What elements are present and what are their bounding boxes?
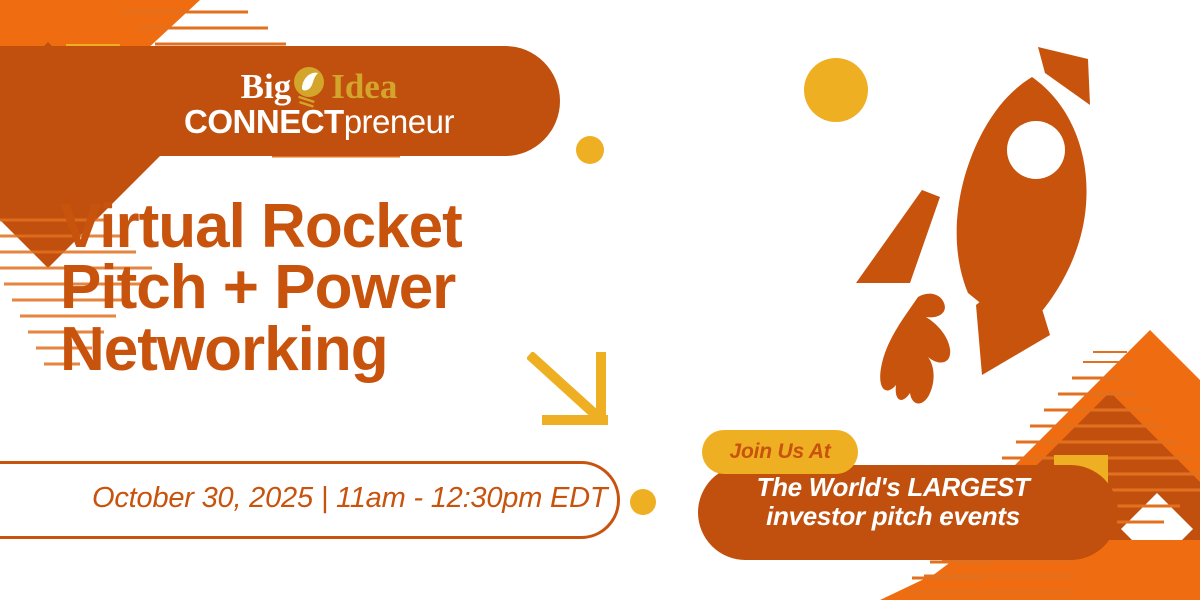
brand-word-big: Big xyxy=(241,69,292,104)
gold-dot-small-mid xyxy=(576,136,604,164)
brand-word-preneur: preneur xyxy=(344,103,454,140)
event-date-text: October 30, 2025 | 11am - 12:30pm EDT xyxy=(92,482,607,515)
gold-dot-date-row xyxy=(630,489,656,515)
brand-connectpreneur: CONNECTpreneur xyxy=(184,105,454,138)
lightbulb-icon xyxy=(288,65,330,109)
rocket-icon xyxy=(840,45,1130,420)
callout-text-block: The World's LARGEST investor pitch event… xyxy=(728,473,1058,531)
arrow-down-right-icon xyxy=(527,352,611,426)
callout-line-2: investor pitch events xyxy=(728,502,1058,531)
brand-word-idea: Idea xyxy=(331,69,397,104)
brand-logo-bar: Big Idea CONNECTpreneur xyxy=(0,46,560,156)
promo-banner: Big Idea CONNECTpreneur Virtual Rocket P… xyxy=(0,0,1200,600)
brand-logo-inner: Big Idea CONNECTpreneur xyxy=(134,52,504,150)
callout-line-1: The World's LARGEST xyxy=(728,473,1058,502)
join-us-badge-label: Join Us At xyxy=(702,430,858,474)
headline-line-2: Pitch + Power xyxy=(60,257,660,318)
headline-line-1: Virtual Rocket xyxy=(60,196,660,257)
